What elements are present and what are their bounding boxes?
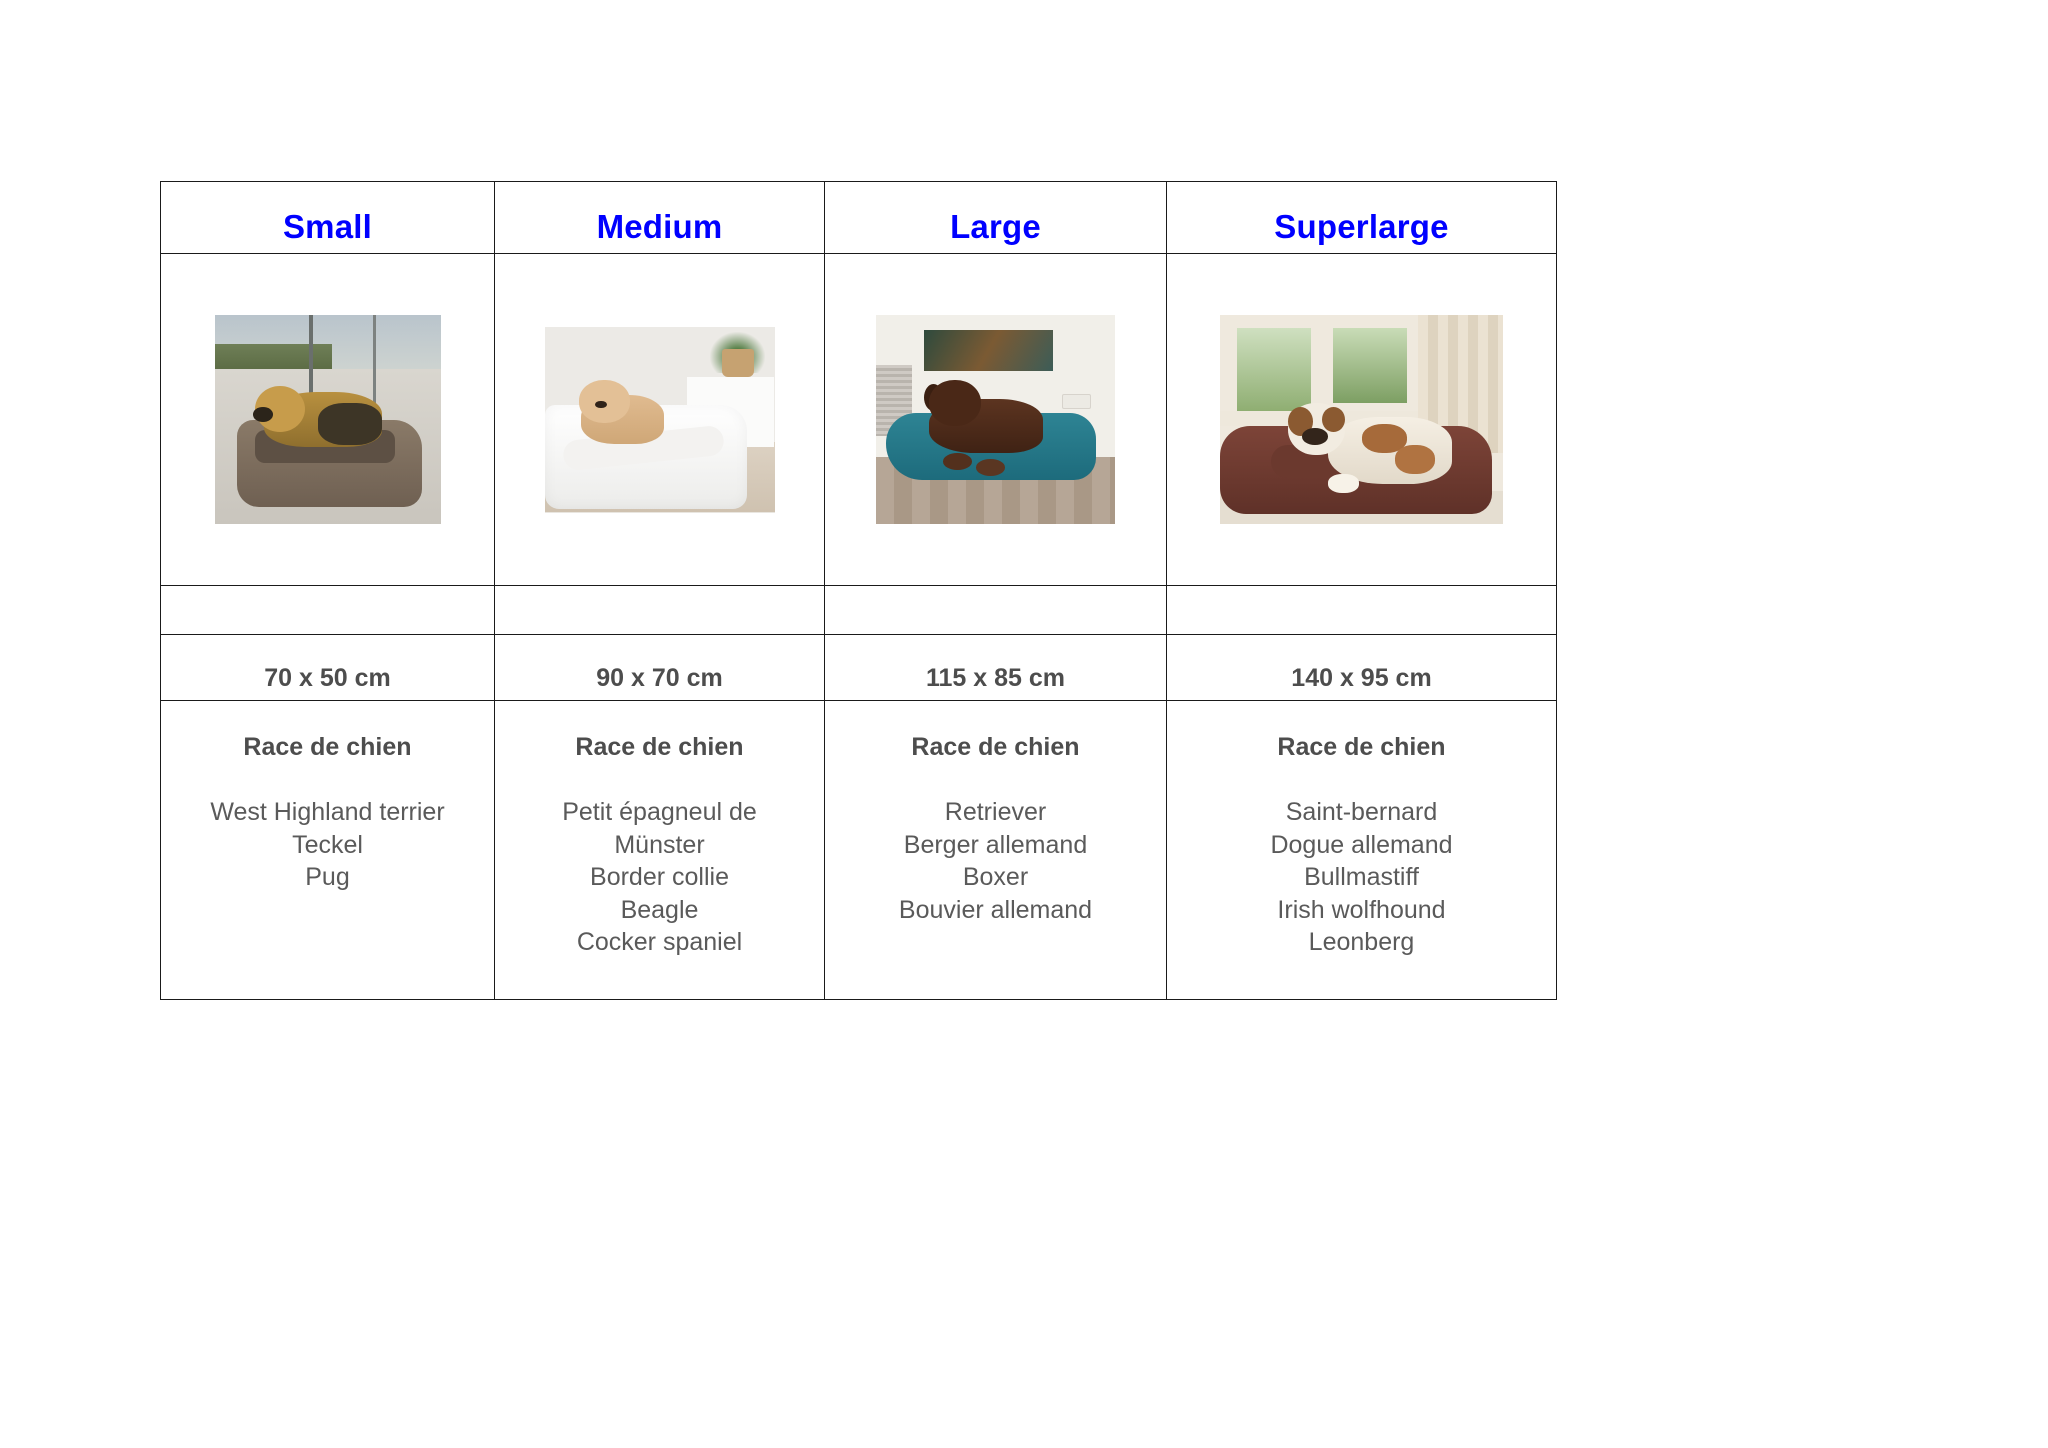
dimension-cell-large: 115 x 85 cm (825, 635, 1167, 701)
photo-layer-dog-snout (253, 407, 273, 422)
list-item: Bullmastiff (1167, 861, 1556, 894)
page-canvas: Small Medium Large Superlarge (0, 0, 2048, 1448)
list-item: Irish wolfhound (1167, 894, 1556, 927)
list-item: Cocker spaniel (495, 926, 824, 959)
size-label-superlarge: Superlarge (1167, 192, 1556, 243)
photo-layer-dog-paw-1 (943, 453, 972, 470)
list-item: Bouvier allemand (825, 894, 1166, 927)
photo-layer-wall-socket (1062, 394, 1090, 409)
breed-list-large: Retriever Berger allemand Boxer Bouvier … (825, 796, 1166, 926)
image-cell-small (161, 254, 495, 586)
breed-block-superlarge: Race de chien Saint-bernard Dogue allema… (1167, 701, 1556, 959)
breeds-title-small: Race de chien (161, 735, 494, 760)
size-label-small: Small (161, 192, 494, 243)
photo-layer-window-right (1333, 328, 1407, 403)
list-item: Münster (495, 829, 824, 862)
photo-layer-plant-pot (722, 349, 754, 377)
photo-small-bed (215, 315, 441, 524)
table-dimension-row: 70 x 50 cm 90 x 70 cm 115 x 85 cm 140 x … (161, 635, 1557, 701)
list-item: Boxer (825, 861, 1166, 894)
spacer-cell-large (825, 586, 1167, 635)
breeds-cell-superlarge: Race de chien Saint-bernard Dogue allema… (1167, 701, 1557, 1000)
photo-wrap-small (161, 254, 494, 585)
dimension-value-medium: 90 x 70 cm (495, 644, 824, 691)
list-item: Berger allemand (825, 829, 1166, 862)
photo-layer-dog-paw (1328, 474, 1359, 493)
size-label-medium: Medium (495, 192, 824, 243)
photo-wrap-medium (495, 254, 824, 585)
photo-layer-dog-back (318, 403, 381, 445)
breeds-cell-large: Race de chien Retriever Berger allemand … (825, 701, 1167, 1000)
table-breeds-row: Race de chien West Highland terrier Teck… (161, 701, 1557, 1000)
header-cell-large: Large (825, 182, 1167, 254)
photo-layer-dog-patch-2 (1395, 445, 1435, 474)
table-header-row: Small Medium Large Superlarge (161, 182, 1557, 254)
dimension-value-small: 70 x 50 cm (161, 644, 494, 691)
size-label-large: Large (825, 192, 1166, 243)
header-cell-small: Small (161, 182, 495, 254)
breed-block-large: Race de chien Retriever Berger allemand … (825, 701, 1166, 926)
breed-list-superlarge: Saint-bernard Dogue allemand Bullmastiff… (1167, 796, 1556, 959)
dog-bed-size-table: Small Medium Large Superlarge (160, 181, 1557, 1000)
list-item: Retriever (825, 796, 1166, 829)
breeds-cell-medium: Race de chien Petit épagneul de Münster … (495, 701, 825, 1000)
dimension-cell-small: 70 x 50 cm (161, 635, 495, 701)
list-item: Leonberg (1167, 926, 1556, 959)
breeds-title-medium: Race de chien (495, 735, 824, 760)
photo-medium-bed (545, 327, 775, 513)
breeds-title-large: Race de chien (825, 735, 1166, 760)
spacer-cell-small (161, 586, 495, 635)
image-cell-medium (495, 254, 825, 586)
breed-block-small: Race de chien West Highland terrier Teck… (161, 701, 494, 894)
list-item: Dogue allemand (1167, 829, 1556, 862)
photo-layer-dog-paw-2 (976, 459, 1005, 476)
breed-block-medium: Race de chien Petit épagneul de Münster … (495, 701, 824, 959)
image-cell-large (825, 254, 1167, 586)
list-item: Beagle (495, 894, 824, 927)
table-image-row (161, 254, 1557, 586)
photo-wrap-large (825, 254, 1166, 585)
photo-wrap-superlarge (1167, 254, 1556, 585)
table-spacer-row (161, 586, 1557, 635)
list-item: Pug (161, 861, 494, 894)
photo-layer-dog-nose (595, 401, 607, 408)
breeds-cell-small: Race de chien West Highland terrier Teck… (161, 701, 495, 1000)
photo-superlarge-bed (1220, 315, 1503, 524)
dimension-value-superlarge: 140 x 95 cm (1167, 644, 1556, 691)
dimension-cell-superlarge: 140 x 95 cm (1167, 635, 1557, 701)
list-item: Teckel (161, 829, 494, 862)
photo-layer-artwork (924, 330, 1053, 372)
photo-large-bed (876, 315, 1115, 524)
breed-list-medium: Petit épagneul de Münster Border collie … (495, 796, 824, 959)
breeds-title-superlarge: Race de chien (1167, 735, 1556, 760)
list-item: Saint-bernard (1167, 796, 1556, 829)
list-item: Petit épagneul de (495, 796, 824, 829)
dimension-value-large: 115 x 85 cm (825, 644, 1166, 691)
breed-list-small: West Highland terrier Teckel Pug (161, 796, 494, 894)
spacer-cell-medium (495, 586, 825, 635)
photo-layer-dog-eye-mask-right (1322, 407, 1345, 432)
photo-layer-window-left (1237, 328, 1311, 412)
header-cell-superlarge: Superlarge (1167, 182, 1557, 254)
dimension-cell-medium: 90 x 70 cm (495, 635, 825, 701)
photo-layer-dog-head (929, 380, 982, 426)
list-item: West Highland terrier (161, 796, 494, 829)
spacer-cell-superlarge (1167, 586, 1557, 635)
image-cell-superlarge (1167, 254, 1557, 586)
list-item: Border collie (495, 861, 824, 894)
header-cell-medium: Medium (495, 182, 825, 254)
photo-layer-dog-snout (1302, 428, 1327, 445)
